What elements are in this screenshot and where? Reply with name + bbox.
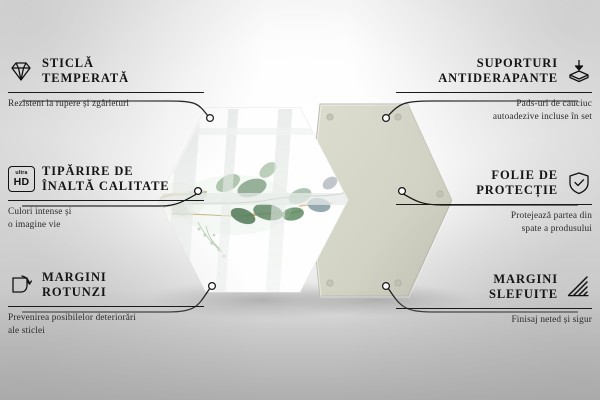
feature-subtitle-line: Prevenirea posibilelor deteriorări bbox=[8, 312, 204, 325]
feature-header: MARGINI SLEFUITE bbox=[396, 270, 592, 304]
feature-title-line: TIPĂRIRE DE bbox=[42, 164, 170, 179]
feature-subtitle: Rezistent la rupere și zgârieturi bbox=[8, 98, 204, 111]
diagonal-lines-icon bbox=[566, 274, 592, 300]
feature-subtitle: Culori intense și o imagine vie bbox=[8, 206, 204, 232]
pad-press-icon bbox=[566, 58, 592, 84]
feature-divider bbox=[8, 200, 204, 201]
feature-subtitle: Prevenirea posibilelor deteriorări ale s… bbox=[8, 312, 204, 338]
feature-divider bbox=[396, 204, 592, 205]
feature-header: MARGINI ROTUNZI bbox=[8, 268, 204, 302]
feature-subtitle-line: spate a produsului bbox=[396, 223, 592, 236]
feature-anti-slip-supports: SUPORTURI ANTIDERAPANTE Pads-uri de cauc… bbox=[396, 54, 592, 124]
feature-title-line: FOLIE DE bbox=[476, 168, 558, 183]
rounded-corner-icon bbox=[8, 272, 34, 298]
feature-title: MARGINI SLEFUITE bbox=[489, 272, 558, 302]
feature-high-quality-print: ultra HD TIPĂRIRE DE ÎNALTĂ CALITATE Cul… bbox=[8, 162, 204, 232]
feature-protective-film: FOLIE DE PROTECȚIE Protejează partea din… bbox=[396, 166, 592, 236]
feature-title-line: SUPORTURI bbox=[438, 56, 558, 71]
ultra-hd-badge-icon: ultra HD bbox=[8, 166, 34, 192]
feature-title-line: ROTUNZI bbox=[42, 285, 107, 300]
feature-title-line: PROTECȚIE bbox=[476, 183, 558, 198]
feature-header: SUPORTURI ANTIDERAPANTE bbox=[396, 54, 592, 88]
feature-title: FOLIE DE PROTECȚIE bbox=[476, 168, 558, 198]
feature-divider bbox=[396, 92, 592, 93]
feature-title: SUPORTURI ANTIDERAPANTE bbox=[438, 56, 558, 86]
feature-divider bbox=[8, 92, 204, 93]
feature-header: FOLIE DE PROTECȚIE bbox=[396, 166, 592, 200]
diamond-icon bbox=[8, 58, 34, 84]
feature-subtitle: Pads-uri de cauciuc autoadezive incluse … bbox=[396, 98, 592, 124]
feature-title-line: ÎNALTĂ CALITATE bbox=[42, 179, 170, 194]
product-infographic: STICLĂ TEMPERATĂ Rezistent la rupere și … bbox=[0, 0, 600, 400]
feature-title-line: STICLĂ bbox=[42, 56, 129, 71]
feature-divider bbox=[8, 306, 204, 307]
feature-subtitle-line: Protejează partea din bbox=[396, 210, 592, 223]
feature-title: STICLĂ TEMPERATĂ bbox=[42, 56, 129, 86]
feature-divider bbox=[396, 308, 592, 309]
feature-tempered-glass: STICLĂ TEMPERATĂ Rezistent la rupere și … bbox=[8, 54, 204, 111]
feature-subtitle-line: Rezistent la rupere și zgârieturi bbox=[8, 98, 204, 111]
feature-subtitle: Finisaj neted și sigur bbox=[396, 314, 592, 327]
hd-label: HD bbox=[14, 177, 30, 188]
feature-title-line: SLEFUITE bbox=[489, 287, 558, 302]
feature-subtitle-line: ale sticlei bbox=[8, 325, 204, 338]
feature-subtitle-line: o imagine vie bbox=[8, 219, 204, 232]
feature-subtitle-line: Pads-uri de cauciuc bbox=[396, 98, 592, 111]
feature-title: TIPĂRIRE DE ÎNALTĂ CALITATE bbox=[42, 164, 170, 194]
feature-title-line: TEMPERATĂ bbox=[42, 71, 129, 86]
feature-title: MARGINI ROTUNZI bbox=[42, 270, 107, 300]
feature-subtitle: Protejează partea din spate a produsului bbox=[396, 210, 592, 236]
feature-subtitle-line: Culori intense și bbox=[8, 206, 204, 219]
feature-title-line: MARGINI bbox=[42, 270, 107, 285]
feature-title-line: ANTIDERAPANTE bbox=[438, 71, 558, 86]
feature-title-line: MARGINI bbox=[489, 272, 558, 287]
feature-subtitle-line: Finisaj neted și sigur bbox=[396, 314, 592, 327]
shield-check-icon bbox=[566, 170, 592, 196]
feature-rounded-edges: MARGINI ROTUNZI Prevenirea posibilelor d… bbox=[8, 268, 204, 338]
feature-polished-edges: MARGINI SLEFUITE Finisaj neted și sigur bbox=[396, 270, 592, 327]
feature-header: ultra HD TIPĂRIRE DE ÎNALTĂ CALITATE bbox=[8, 162, 204, 196]
feature-header: STICLĂ TEMPERATĂ bbox=[8, 54, 204, 88]
feature-subtitle-line: autoadezive incluse în set bbox=[396, 111, 592, 124]
